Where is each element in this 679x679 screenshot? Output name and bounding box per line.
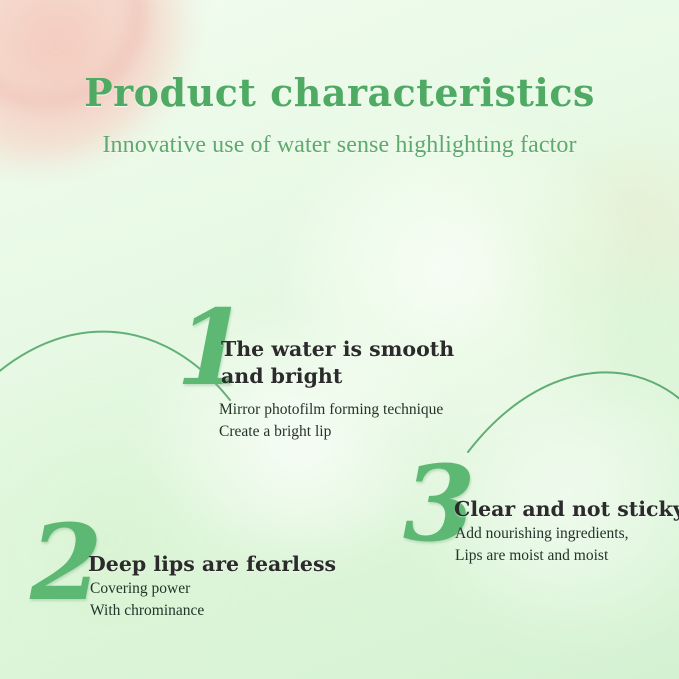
feature-heading-1: The water is smooth and bright — [221, 336, 521, 390]
product-characteristics-poster: Product characteristics Innovative use o… — [0, 0, 679, 679]
feature-body-3: Add nourishing ingredients, Lips are moi… — [455, 523, 679, 567]
feature-heading-3: Clear and not sticky — [454, 496, 679, 523]
page-subtitle: Innovative use of water sense highlighti… — [0, 115, 679, 159]
feature-body-2: Covering power With chrominance — [90, 578, 370, 622]
feature-body-1: Mirror photofilm forming technique Creat… — [219, 399, 519, 443]
feature-heading-2: Deep lips are fearless — [88, 551, 388, 578]
poster-header: Product characteristics Innovative use o… — [0, 0, 679, 159]
page-title: Product characteristics — [0, 0, 679, 115]
background-blob-beige — [560, 140, 679, 300]
